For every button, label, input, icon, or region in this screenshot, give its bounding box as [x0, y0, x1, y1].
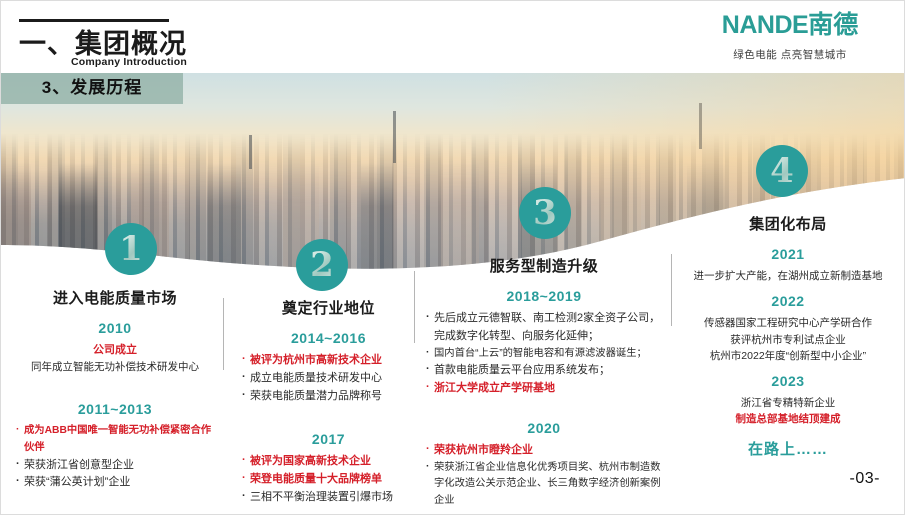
- year-label: 2023: [677, 373, 899, 389]
- slide-header: 一、集团概况 Company Introduction NANDE南德 绿色电能…: [1, 1, 905, 73]
- timeline-marker-4-number: 4: [756, 145, 808, 197]
- year-label: 2010: [15, 320, 215, 336]
- event-bullet: 成为ABB中国唯一智能无功补偿紧密合作伙伴: [15, 423, 215, 456]
- column-divider-3: [671, 254, 672, 326]
- year-label: 2021: [677, 246, 899, 262]
- event-bullet: 荣获“蒲公英计划”企业: [15, 474, 215, 492]
- event-bullet: 荣获浙江省企业信息化优秀项目奖、杭州市制造数字化改造公关示范企业、长三角数字经济…: [425, 460, 663, 510]
- timeline-marker-4[interactable]: 4: [756, 145, 808, 197]
- event-bullet: 国内首台“上云”的智能电容和有源滤波器诞生；: [425, 346, 663, 363]
- hero-antenna-icon: [393, 111, 396, 163]
- timeline-marker-2-number: 2: [296, 239, 348, 291]
- event-bullet: 荣获杭州市瞪羚企业: [425, 442, 663, 460]
- section-label: 3、发展历程: [1, 71, 183, 104]
- page-number: -03-: [850, 470, 880, 488]
- event-line: 获评杭州市专利试点企业: [677, 332, 899, 348]
- event-bullet: 成立电能质量技术研发中心: [241, 370, 416, 388]
- slide-canvas: 一、集团概况 Company Introduction NANDE南德 绿色电能…: [0, 0, 905, 515]
- event-line: 同年成立智能无功补偿技术研发中心: [15, 359, 215, 375]
- timeline-marker-1[interactable]: 1: [105, 223, 157, 275]
- timeline-footer-note: 在路上……: [677, 438, 899, 459]
- event-line: 杭州市2022年度“创新型中小企业”: [677, 348, 899, 364]
- timeline-marker-3[interactable]: 3: [519, 187, 571, 239]
- logo-tagline: 绿色电能 点亮智慧城市: [690, 47, 890, 62]
- timeline-column-4-title: 集团化布局: [677, 213, 899, 234]
- timeline-column-1-title: 进入电能质量市场: [15, 287, 215, 308]
- event-bullet: 荣获电能质量潜力品牌称号: [241, 388, 416, 406]
- event-line: 浙江省专精特新企业: [677, 395, 899, 411]
- logo-wordmark: NANDE南德: [690, 13, 890, 38]
- timeline-column-3-title: 服务型制造升级: [425, 255, 663, 276]
- event-bullet: 被评为杭州市高新技术企业: [241, 352, 416, 370]
- year-label: 2014~2016: [241, 330, 416, 346]
- event-bullet: 先后成立元德智联、南工检测2家全资子公司，完成数字化转型、向服务化延伸；: [425, 310, 663, 346]
- timeline-column-2-title: 奠定行业地位: [241, 297, 416, 318]
- event-bullet: 荣登电能质量十大品牌榜单: [241, 471, 416, 489]
- event-bullet: 三相不平衡治理装置引爆市场: [241, 489, 416, 507]
- year-label: 2022: [677, 293, 899, 309]
- page-subtitle-en: Company Introduction: [71, 56, 187, 68]
- event-line: 制造总部基地结顶建成: [677, 411, 899, 427]
- event-bullet: 荣获浙江省创意型企业: [15, 457, 215, 475]
- timeline-column-2: 奠定行业地位 2014~2016 被评为杭州市高新技术企业 成立电能质量技术研发…: [241, 297, 416, 507]
- logo-latin: NANDE: [722, 11, 808, 39]
- event-line: 公司成立: [15, 342, 215, 359]
- event-bullet: 首款电能质量云平台应用系统发布；: [425, 362, 663, 380]
- timeline-marker-2[interactable]: 2: [296, 239, 348, 291]
- timeline-column-3: 服务型制造升级 2018~2019 先后成立元德智联、南工检测2家全资子公司，完…: [425, 255, 663, 510]
- event-line: 传感器国家工程研究中心产学研合作: [677, 315, 899, 331]
- event-bullet: 被评为国家高新技术企业: [241, 453, 416, 471]
- year-label: 2011~2013: [15, 401, 215, 417]
- event-bullet: 浙江大学成立产学研基地: [425, 380, 663, 398]
- year-label: 2020: [425, 420, 663, 436]
- timeline-marker-3-number: 3: [519, 187, 571, 239]
- logo-cjk: 南德: [808, 11, 858, 39]
- event-line: 进一步扩大产能，在湖州成立新制造基地: [677, 268, 899, 284]
- year-label: 2017: [241, 431, 416, 447]
- year-label: 2018~2019: [425, 288, 663, 304]
- timeline-column-4: 集团化布局 2021 进一步扩大产能，在湖州成立新制造基地 2022 传感器国家…: [677, 213, 899, 459]
- timeline-marker-1-number: 1: [105, 223, 157, 275]
- hero-antenna-icon: [249, 135, 252, 169]
- column-divider-1: [223, 298, 224, 370]
- brand-logo: NANDE南德 绿色电能 点亮智慧城市: [690, 13, 890, 62]
- timeline-column-1: 进入电能质量市场 2010 公司成立 同年成立智能无功补偿技术研发中心 2011…: [15, 287, 215, 492]
